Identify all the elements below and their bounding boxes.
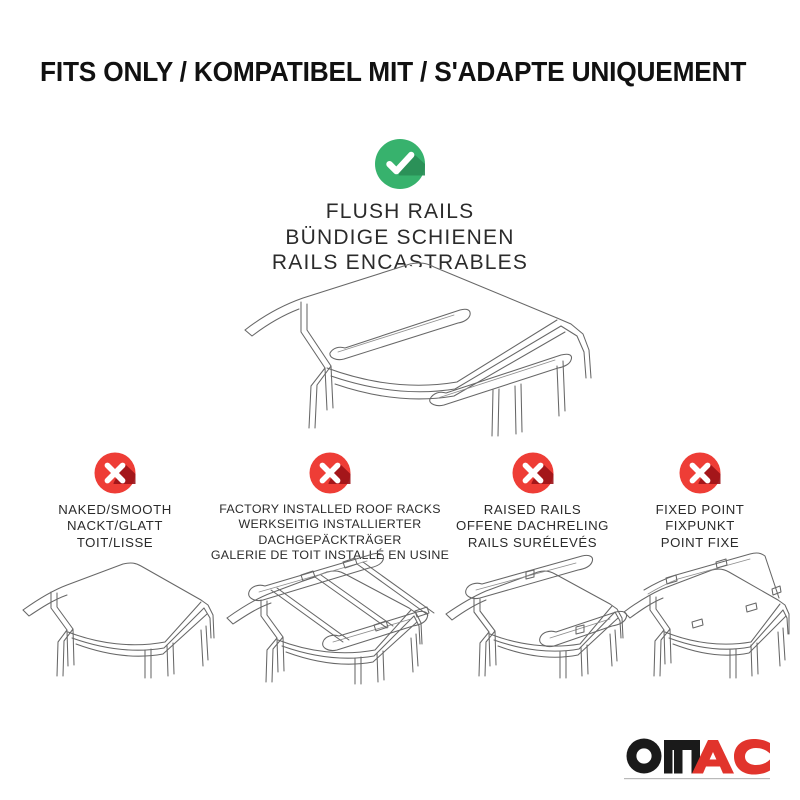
incompatible-option-raised-rails: RAISED RAILS OFFENE DACHRELING RAILS SUR… xyxy=(440,452,625,551)
incompatible-option-fixed-point: FIXED POINT FIXPUNKT POINT FIXE xyxy=(620,452,780,551)
page-title: FITS ONLY / KOMPATIBEL MIT / S'ADAPTE UN… xyxy=(40,56,737,88)
label-en: FIXED POINT xyxy=(620,502,780,518)
car-roof-raised-rails-illustration xyxy=(440,548,625,678)
compatible-option: FLUSH RAILS BÜNDIGE SCHIENEN RAILS ENCAS… xyxy=(0,138,800,276)
check-circle-icon xyxy=(374,138,426,190)
omac-logo xyxy=(622,734,772,780)
cross-circle-icon xyxy=(512,452,554,494)
car-roof-factory-roof-racks-illustration xyxy=(205,544,455,684)
label-en: NAKED/SMOOTH xyxy=(15,502,215,518)
label-en: FACTORY INSTALLED ROOF RACKS xyxy=(205,502,455,517)
incompatible-labels: RAISED RAILS OFFENE DACHRELING RAILS SUR… xyxy=(440,502,625,551)
label-de-1: WERKSEITIG INSTALLIERTER xyxy=(205,517,455,532)
car-roof-fixed-point-illustration xyxy=(620,548,780,678)
car-roof-flush-rails-illustration xyxy=(205,258,605,438)
cross-circle-icon xyxy=(94,452,136,494)
label-de: OFFENE DACHRELING xyxy=(440,518,625,534)
incompatible-option-naked-smooth: NAKED/SMOOTH NACKT/GLATT TOIT/LISSE xyxy=(15,452,215,551)
label-en: RAISED RAILS xyxy=(440,502,625,518)
compatible-label-de: BÜNDIGE SCHIENEN xyxy=(0,225,800,251)
cross-circle-icon xyxy=(679,452,721,494)
compatible-label-en: FLUSH RAILS xyxy=(0,199,800,225)
cross-circle-icon xyxy=(309,452,351,494)
incompatible-labels: FIXED POINT FIXPUNKT POINT FIXE xyxy=(620,502,780,551)
incompatible-labels: NAKED/SMOOTH NACKT/GLATT TOIT/LISSE xyxy=(15,502,215,551)
label-de: FIXPUNKT xyxy=(620,518,780,534)
car-roof-naked-smooth-illustration xyxy=(15,548,215,678)
incompatible-option-factory-roof-racks: FACTORY INSTALLED ROOF RACKS WERKSEITIG … xyxy=(205,452,455,564)
label-de: NACKT/GLATT xyxy=(15,518,215,534)
